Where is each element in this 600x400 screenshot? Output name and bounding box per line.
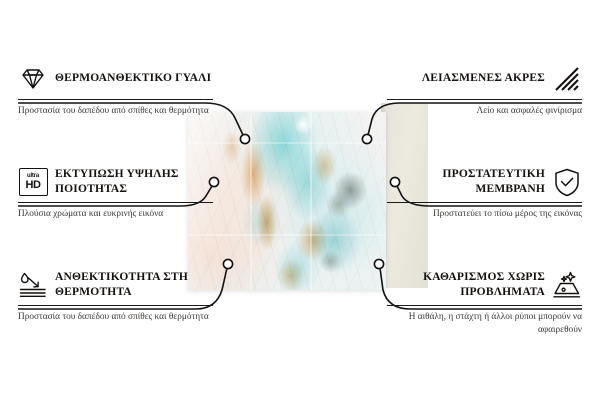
diamond-icon xyxy=(18,64,48,94)
feature-easy-cleaning: ΚΑΘΑΡΙΣΜΟΣ ΧΩΡΙΣ ΠΡΟΒΛΗΜΑΤΑ Η αιθάλη, η … xyxy=(387,268,582,337)
connector-dot-heat-resistant xyxy=(223,259,232,268)
feature-heading-row: ultra HD ΕΚΤΥΠΩΣΗ ΥΨΗΛΗΣ ΠΟΙΟΤΗΤΑΣ xyxy=(18,165,213,199)
connector-dot-easy-cleaning xyxy=(374,259,383,268)
feature-heading-row: ΠΡΟΣΤΑΤΕΥΤΙΚΗ ΜΕΜΒΡΑΝΗ xyxy=(387,165,582,199)
ultra-hd-label-bottom: HD xyxy=(25,180,40,191)
feature-divider xyxy=(387,99,582,100)
feature-heading-row: ΘΕΡΜΟΑΝΘΕΚΤΙΚΟ ΓΥΑΛΙ xyxy=(18,62,213,96)
feature-title: ΛΕΙΑΣΜΕΝΕΣ ΑΚΡΕΣ xyxy=(422,71,545,86)
ink-base-layer xyxy=(188,112,386,290)
glass-reflection-line-4 xyxy=(188,234,386,236)
product-feature-infographic: ΘΕΡΜΟΑΝΘΕΚΤΙΚΟ ΓΥΑΛΙ Προστασία του δαπέδ… xyxy=(0,0,600,400)
feature-description: Προστασία του δαπέδου από σπίθες και θερ… xyxy=(18,311,213,324)
ink-vein-layer xyxy=(188,112,386,290)
feature-description: Προστατεύει το πίσω μέρος της εικόνας xyxy=(387,208,582,221)
ink-teal-layer xyxy=(188,112,386,290)
feature-title: ΑΝΘΕΚΤΙΚΟΤΗΤΑ ΣΤΗ ΘΕΡΜΟΤΗΤΑ xyxy=(55,270,213,300)
feature-heat-resistant-glass: ΘΕΡΜΟΑΝΘΕΚΤΙΚΟ ΓΥΑΛΙ Προστασία του δαπέδ… xyxy=(18,62,213,118)
ink-gold-layer xyxy=(188,112,386,290)
feature-description: Πλούσια χρώματα και ευκρινής εικόνα xyxy=(18,208,213,221)
feature-smoothed-edges: ΛΕΙΑΣΜΕΝΕΣ ΑΚΡΕΣ Λείο και ασφαλές φινίρι… xyxy=(387,62,582,118)
beveled-edge-icon xyxy=(552,64,582,94)
connector-dot-smooth-edges xyxy=(362,134,371,143)
ultra-hd-icon: ultra HD xyxy=(18,167,48,197)
glass-panel-image xyxy=(188,112,386,290)
feature-heading-row: ΑΝΘΕΚΤΙΚΟΤΗΤΑ ΣΤΗ ΘΕΡΜΟΤΗΤΑ xyxy=(18,268,213,302)
shield-check-icon xyxy=(552,167,582,197)
feature-divider xyxy=(18,99,213,100)
feature-divider xyxy=(18,202,213,203)
glass-reflection-line-3 xyxy=(188,142,386,144)
feature-title: ΕΚΤΥΠΩΣΗ ΥΨΗΛΗΣ ΠΟΙΟΤΗΤΑΣ xyxy=(55,167,213,197)
flame-on-surface-icon xyxy=(18,270,48,300)
glass-reflection-line-1 xyxy=(250,112,252,290)
feature-description: Λείο και ασφαλές φινίρισμα xyxy=(387,105,582,118)
connector-dot-heat-glass xyxy=(240,134,249,143)
feature-heat-durability: ΑΝΘΕΚΤΙΚΟΤΗΤΑ ΣΤΗ ΘΕΡΜΟΤΗΤΑ Προστασία το… xyxy=(18,268,213,324)
feature-heading-row: ΚΑΘΑΡΙΣΜΟΣ ΧΩΡΙΣ ΠΡΟΒΛΗΜΑΤΑ xyxy=(387,268,582,302)
feature-title: ΚΑΘΑΡΙΣΜΟΣ ΧΩΡΙΣ ΠΡΟΒΛΗΜΑΤΑ xyxy=(387,270,545,300)
feature-description: Προστασία του δαπέδου από σπίθες και θερ… xyxy=(18,105,213,118)
feature-divider xyxy=(387,202,582,203)
feature-title: ΘΕΡΜΟΑΝΘΕΚΤΙΚΟ ΓΥΑΛΙ xyxy=(55,71,211,86)
ultra-hd-badge: ultra HD xyxy=(19,168,48,196)
feature-heading-row: ΛΕΙΑΣΜΕΝΕΣ ΑΚΡΕΣ xyxy=(387,62,582,96)
feature-description: Η αιθάλη, η στάχτη ή άλλοι ρύποι μπορούν… xyxy=(387,311,582,337)
feature-high-quality-print: ultra HD ΕΚΤΥΠΩΣΗ ΥΨΗΛΗΣ ΠΟΙΟΤΗΤΑΣ Πλούσ… xyxy=(18,165,213,221)
ink-slate-layer xyxy=(188,112,386,290)
glass-highlight-sparkle xyxy=(292,114,314,136)
feature-title: ΠΡΟΣΤΑΤΕΥΤΙΚΗ ΜΕΜΒΡΑΝΗ xyxy=(387,167,545,197)
feature-divider xyxy=(387,305,582,306)
glass-reflection-line-2 xyxy=(310,112,312,290)
glass-sheen-layer xyxy=(188,112,386,290)
feature-protective-membrane: ΠΡΟΣΤΑΤΕΥΤΙΚΗ ΜΕΜΒΡΑΝΗ Προστατεύει το πί… xyxy=(387,165,582,221)
sponge-sparkle-icon xyxy=(552,270,582,300)
feature-divider xyxy=(18,305,213,306)
